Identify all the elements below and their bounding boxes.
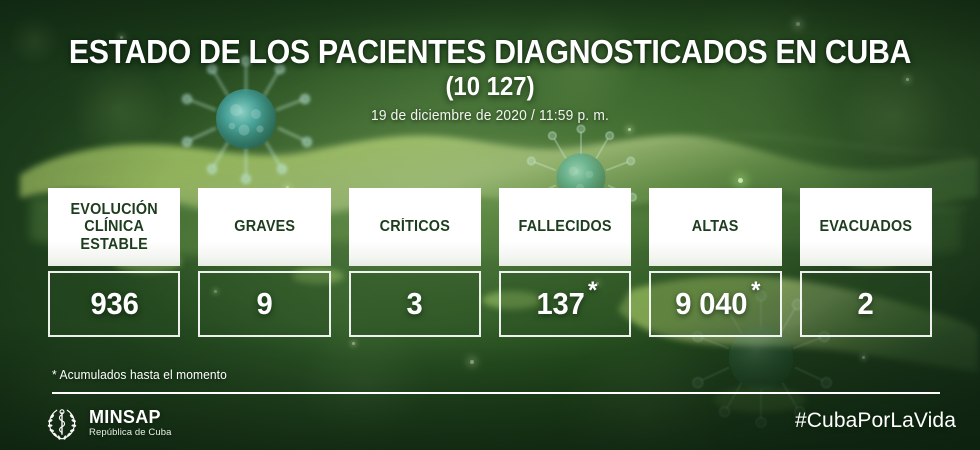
- stat-card-label: EVACUADOS: [800, 188, 932, 266]
- stat-card-value: 9: [256, 286, 272, 322]
- stat-card-altas: ALTAS 9 040*: [649, 188, 781, 337]
- stat-card-value: 2: [858, 286, 874, 322]
- minsap-logo-text: MINSAP República de Cuba: [89, 408, 172, 438]
- stat-card-graves: GRAVES 9: [198, 188, 330, 337]
- stat-card-label-text: EVACUADOS: [819, 218, 912, 235]
- stat-card-label: FALLECIDOS: [499, 188, 631, 266]
- header: ESTADO DE LOS PACIENTES DIAGNOSTICADOS E…: [0, 34, 980, 124]
- stat-card-value-box: 9 040*: [649, 271, 781, 337]
- stat-cards-row: EVOLUCIÓN CLÍNICA ESTABLE 936 GRAVES 9 C…: [48, 188, 932, 337]
- footer-divider: [52, 392, 940, 394]
- stat-card-label-text: EVOLUCIÓN CLÍNICA ESTABLE: [56, 201, 172, 253]
- stat-card-label-text: CRÍTICOS: [380, 218, 450, 235]
- stat-card-value-box: 9: [198, 271, 330, 337]
- stat-card-value: 3: [407, 286, 423, 322]
- stat-card-label-text: ALTAS: [692, 218, 739, 235]
- stat-card-label-text: GRAVES: [234, 218, 295, 235]
- total-cases: (10 127): [39, 72, 941, 101]
- stat-card-value: 137: [536, 286, 584, 322]
- stat-card-label: CRÍTICOS: [349, 188, 481, 266]
- stat-card-label: GRAVES: [198, 188, 330, 266]
- minsap-name: MINSAP: [89, 408, 172, 426]
- stat-card-label: ALTAS: [649, 188, 781, 266]
- stat-card-criticos: CRÍTICOS 3: [349, 188, 481, 337]
- stat-card-value-box: 137*: [499, 271, 631, 337]
- minsap-subtitle: República de Cuba: [89, 428, 172, 438]
- stat-card-value-box: 3: [349, 271, 481, 337]
- stat-card-fallecidos: FALLECIDOS 137*: [499, 188, 631, 337]
- stat-card-label-text: FALLECIDOS: [519, 218, 612, 235]
- infographic-poster: ESTADO DE LOS PACIENTES DIAGNOSTICADOS E…: [0, 0, 980, 450]
- stat-card-evacuados: EVACUADOS 2: [800, 188, 932, 337]
- stat-card-value-box: 936: [48, 271, 180, 337]
- stat-card-value: 936: [90, 286, 138, 322]
- footnote: * Acumulados hasta el momento: [52, 368, 227, 382]
- stat-card-value-box: 2: [800, 271, 932, 337]
- campaign-hashtag: #CubaPorLaVida: [795, 409, 956, 433]
- page-title: ESTADO DE LOS PACIENTES DIAGNOSTICADOS E…: [39, 34, 941, 70]
- stat-card-value: 9 040: [675, 286, 747, 322]
- stat-card-label: EVOLUCIÓN CLÍNICA ESTABLE: [48, 188, 180, 266]
- stat-card-evolucion-clinica-estable: EVOLUCIÓN CLÍNICA ESTABLE 936: [48, 188, 180, 337]
- minsap-emblem-icon: [44, 404, 80, 442]
- report-timestamp: 19 de diciembre de 2020 / 11:59 p. m.: [25, 108, 956, 124]
- minsap-logo: MINSAP República de Cuba: [44, 404, 172, 442]
